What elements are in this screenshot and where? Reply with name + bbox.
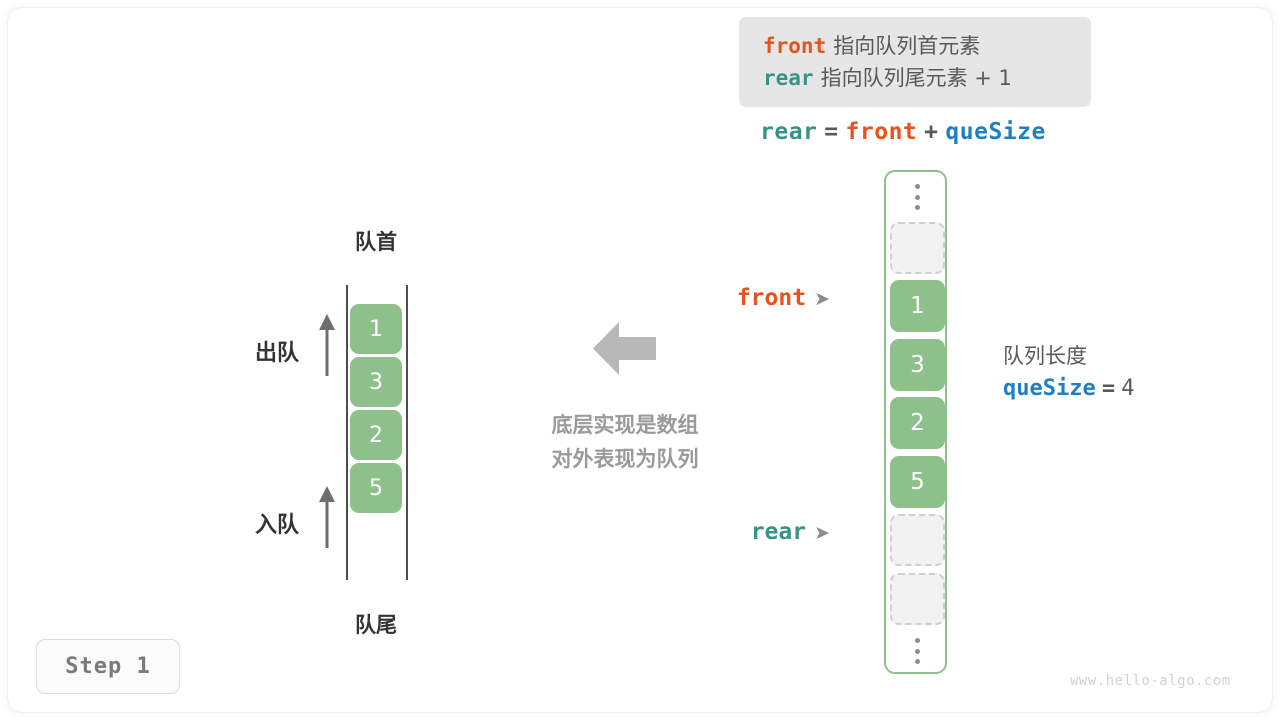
quesize-note-expression: queSize = 4	[1003, 371, 1134, 406]
queue-tail-label: 队尾	[344, 609, 408, 639]
array-cell-1[interactable]: 1	[890, 280, 945, 332]
queue-cell-2[interactable]: 2	[350, 410, 402, 460]
pointer-label-rear: rear➤	[700, 519, 830, 545]
array-cell-2-value: 3	[910, 352, 925, 378]
queue-cell-0[interactable]: 1	[350, 304, 402, 354]
array-cell-3-value: 2	[910, 410, 925, 436]
quesize-note-title: 队列长度	[1003, 341, 1134, 371]
formula-rear-equals-front-plus-quesize: rear = front + queSize	[760, 118, 1046, 145]
legend-keyword-front: front	[763, 34, 826, 58]
legend-text-front: 指向队列首元素	[833, 34, 980, 58]
queue-rail-left	[346, 285, 348, 580]
ellipsis-bottom-icon	[886, 634, 949, 668]
pointer-rear-arrowhead-icon: ➤	[814, 522, 830, 544]
legend-line-rear: rear指向队列尾元素 + 1	[763, 62, 1091, 94]
ellipsis-top-icon	[886, 180, 949, 214]
array-cell-6[interactable]	[890, 573, 945, 625]
quesize-note-name: queSize	[1003, 376, 1096, 401]
queue-head-label: 队首	[344, 226, 408, 256]
array-cell-4[interactable]: 5	[890, 456, 945, 508]
quesize-note-value: 4	[1121, 376, 1134, 401]
pointer-label-front: front➤	[700, 285, 830, 311]
watermark: www.hello-algo.com	[1070, 673, 1231, 689]
step-badge-label: Step 1	[65, 654, 150, 679]
formula-plus: +	[924, 119, 938, 145]
array-container: 1 3 2 5	[884, 170, 947, 674]
formula-rhs-quesize: queSize	[945, 119, 1045, 145]
pointer-rear-text: rear	[751, 519, 806, 545]
array-cell-4-value: 5	[910, 469, 925, 495]
array-cell-3[interactable]: 2	[890, 397, 945, 449]
center-caption-line-2: 对外表现为队列	[520, 442, 730, 476]
enqueue-arrow-up-icon	[316, 486, 338, 548]
array-cell-5[interactable]	[890, 514, 945, 566]
queue-rail-right	[406, 285, 408, 580]
queue-cell-1[interactable]: 3	[350, 357, 402, 407]
queue-cell-1-value: 3	[369, 370, 383, 395]
array-cell-0[interactable]	[890, 222, 945, 274]
enqueue-label: 入队	[255, 507, 299, 539]
queue-cell-2-value: 2	[369, 423, 383, 448]
dequeue-arrow-up-icon	[316, 314, 338, 376]
pointer-front-text: front	[737, 285, 806, 311]
queue-cell-3[interactable]: 5	[350, 463, 402, 513]
array-cell-1-value: 1	[910, 293, 925, 319]
formula-rhs-front: front	[846, 119, 918, 145]
array-cell-2[interactable]: 3	[890, 339, 945, 391]
dequeue-label: 出队	[255, 335, 299, 367]
legend-box: front指向队列首元素 rear指向队列尾元素 + 1	[739, 17, 1091, 107]
quesize-note: 队列长度 queSize = 4	[1003, 341, 1134, 406]
center-caption-line-1: 底层实现是数组	[520, 408, 730, 442]
transform-arrow-left-icon	[593, 320, 656, 377]
pointer-front-arrowhead-icon: ➤	[814, 288, 830, 310]
legend-keyword-rear: rear	[763, 66, 814, 90]
center-caption: 底层实现是数组 对外表现为队列	[520, 408, 730, 476]
formula-equals: =	[824, 119, 838, 145]
legend-line-front: front指向队列首元素	[763, 30, 1091, 62]
queue-cell-0-value: 1	[369, 317, 383, 342]
queue-cell-3-value: 5	[369, 476, 383, 501]
diagram-canvas: front指向队列首元素 rear指向队列尾元素 + 1 rear = fron…	[0, 0, 1280, 720]
legend-text-rear: 指向队列尾元素 + 1	[821, 66, 1012, 90]
step-badge: Step 1	[36, 639, 180, 694]
quesize-note-equals: =	[1102, 376, 1115, 401]
formula-lhs: rear	[760, 119, 817, 145]
